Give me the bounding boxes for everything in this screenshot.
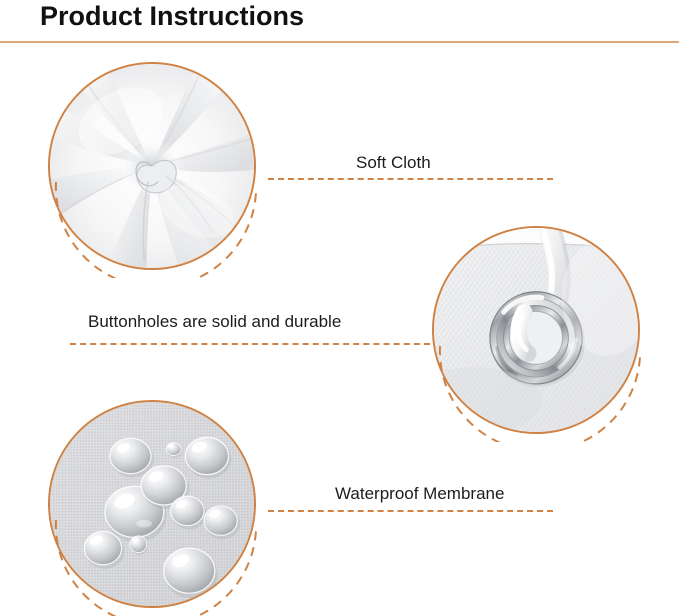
waterproof-label: Waterproof Membrane [335, 484, 504, 504]
waterproof-circle-wrap [48, 400, 264, 616]
page-header: Product Instructions [0, 0, 679, 46]
buttonholes-connector-line [70, 343, 430, 345]
header-divider [0, 41, 679, 43]
grommet-illustration [434, 228, 638, 432]
soft-cloth-circle-wrap [48, 62, 264, 278]
water-droplets-illustration [50, 402, 254, 606]
buttonholes-circle-wrap [432, 226, 648, 442]
page-title: Product Instructions [40, 1, 304, 32]
soft-cloth-photo [48, 62, 256, 270]
buttonholes-label: Buttonholes are solid and durable [88, 312, 341, 332]
soft-cloth-illustration [50, 64, 254, 268]
waterproof-photo [48, 400, 256, 608]
soft-cloth-connector-line [268, 178, 553, 180]
soft-cloth-label: Soft Cloth [356, 153, 431, 173]
buttonholes-photo [432, 226, 640, 434]
waterproof-connector-line [268, 510, 553, 512]
